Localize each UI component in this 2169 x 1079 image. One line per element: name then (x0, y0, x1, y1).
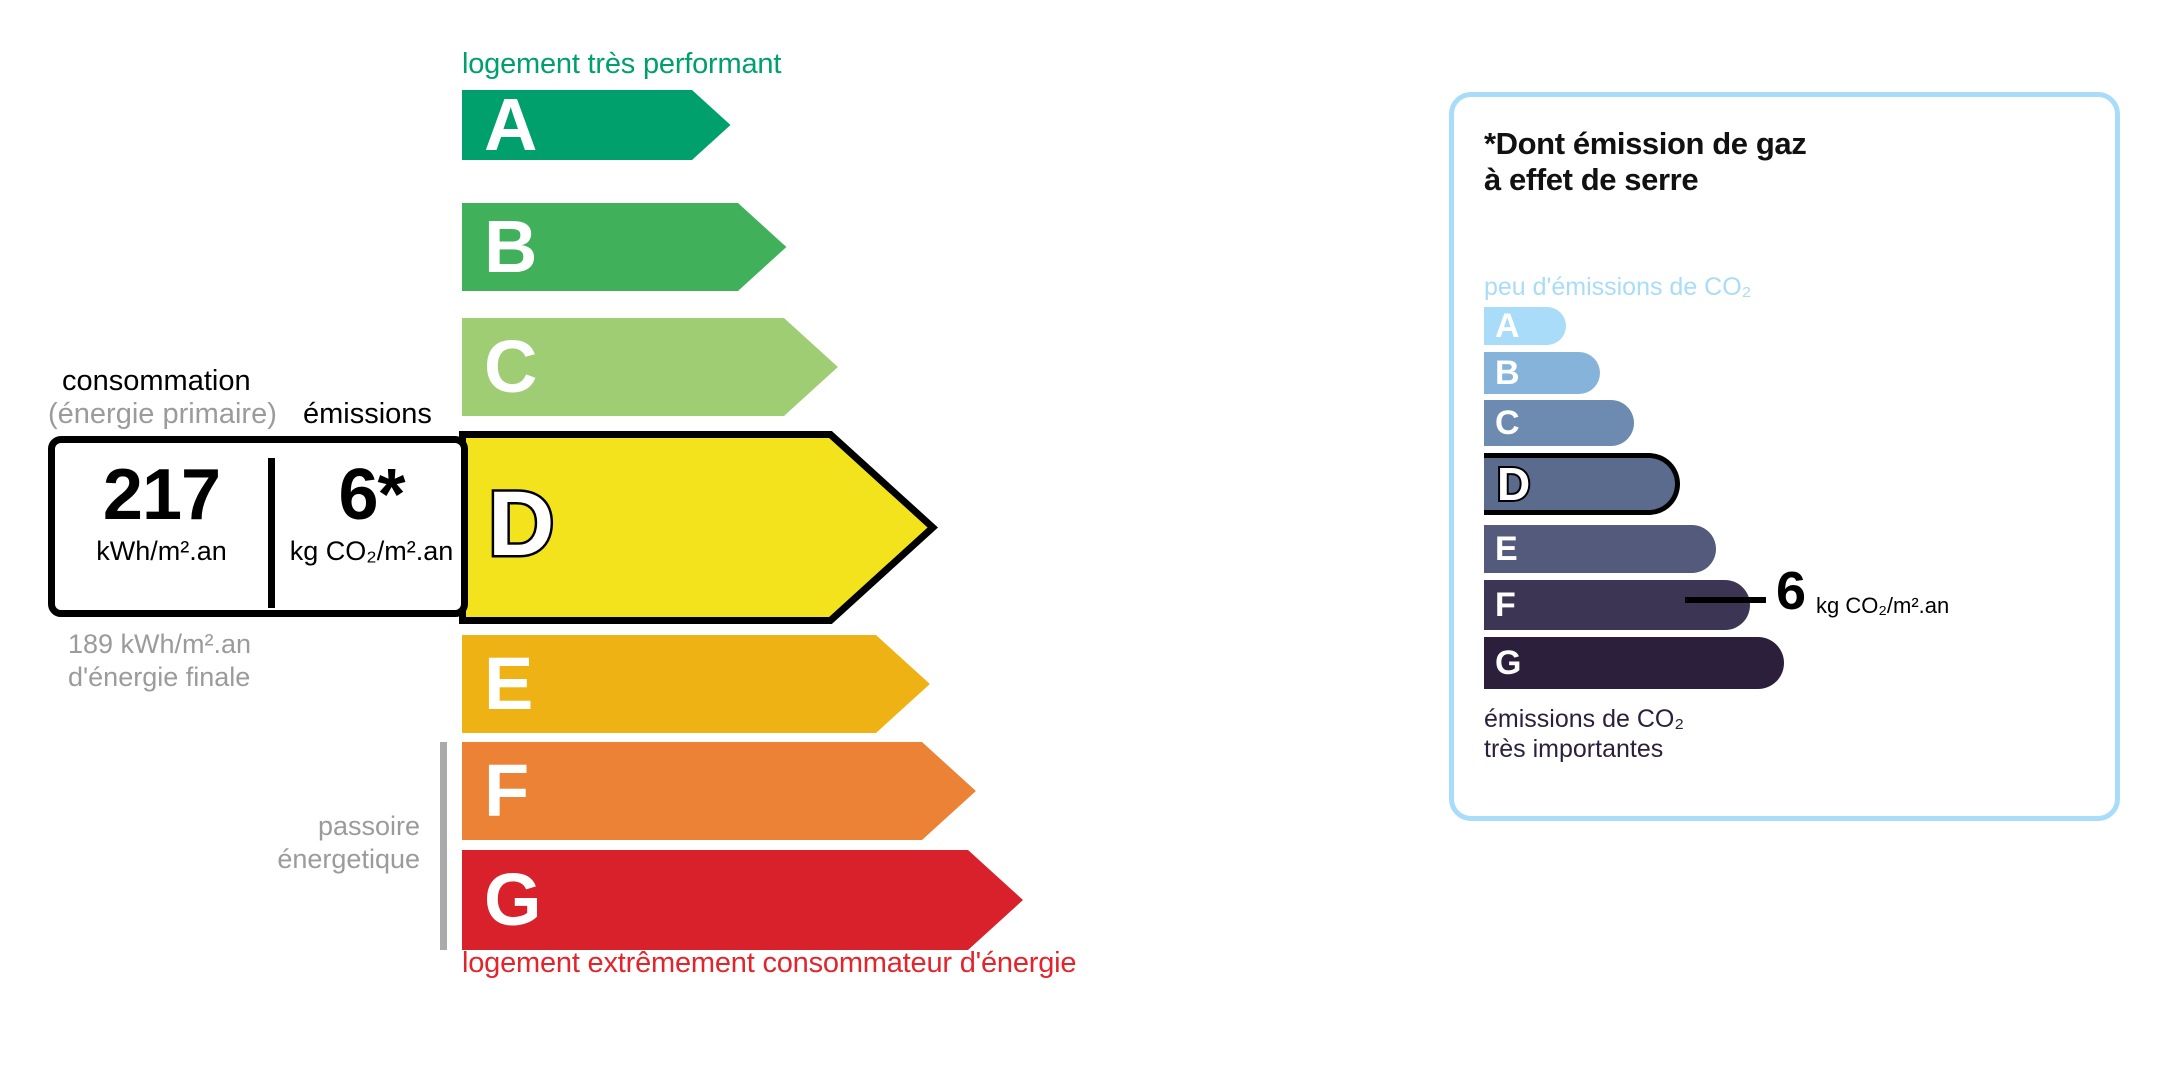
co2-selected-unit: kg CO₂/m².an (1816, 593, 1949, 619)
final-energy-line2: d'énergie finale (68, 661, 251, 694)
energy-class-e: E (462, 635, 876, 733)
co2-bottom-line2: très importantes (1484, 735, 1684, 765)
co2-title-line2: à effet de serre (1484, 162, 1806, 198)
co2-class-letter-e: E (1495, 532, 1518, 566)
label-energie-primaire: (énergie primaire) (48, 398, 277, 431)
primary-energy-unit: kWh/m².an (55, 537, 268, 565)
co2-title-line1: *Dont émission de gaz (1484, 126, 1806, 162)
energy-class-letter-d: D (488, 478, 554, 570)
energy-top-caption: logement très performant (462, 48, 781, 81)
co2-bar-shape-f (1484, 580, 1750, 630)
co2-class-b: B (1484, 352, 1600, 394)
co2-class-c: C (1484, 400, 1634, 446)
primary-energy-value: 217 (55, 459, 268, 531)
co2-class-letter-d: D (1497, 461, 1530, 507)
arrow-shape-b: B (462, 203, 738, 291)
energy-value-box: 217 kWh/m².an 6* kg CO₂/m².an (48, 436, 468, 617)
label-emissions: émissions (303, 398, 432, 431)
co2-emission-value: 6* (275, 459, 468, 531)
passoire-label: passoire énergetique (180, 810, 420, 876)
primary-energy-cell: 217 kWh/m².an (55, 459, 268, 565)
co2-class-f: F (1484, 580, 1750, 630)
co2-class-letter-a: A (1495, 309, 1520, 343)
co2-panel-title: *Dont émission de gaz à effet de serre (1484, 126, 1806, 198)
energy-bottom-caption: logement extrêmement consommateur d'éner… (462, 947, 1076, 980)
co2-emission-cell: 6* kg CO₂/m².an (275, 459, 468, 565)
co2-top-caption: peu d'émissions de CO₂ (1484, 273, 1751, 302)
co2-class-e: E (1484, 525, 1716, 573)
passoire-bracket-line (440, 742, 447, 950)
energy-class-f: F (462, 742, 922, 840)
co2-bottom-caption: émissions de CO₂ très importantes (1484, 705, 1684, 764)
co2-class-letter-b: B (1495, 356, 1520, 390)
co2-leader-line (1685, 597, 1766, 603)
energy-class-c: C (462, 318, 784, 416)
co2-class-a: A (1484, 307, 1566, 345)
energy-class-letter-a: A (484, 88, 537, 162)
co2-emission-unit: kg CO₂/m².an (275, 537, 468, 565)
co2-class-d: D (1484, 453, 1680, 515)
energy-class-b: B (462, 203, 738, 291)
co2-bar-shape-e (1484, 525, 1716, 573)
co2-bottom-line1: émissions de CO₂ (1484, 705, 1684, 735)
co2-selected-value: 6 (1776, 564, 1805, 618)
energy-class-letter-g: G (484, 863, 542, 937)
energy-class-a: A (462, 90, 692, 160)
co2-emission-panel: *Dont émission de gaz à effet de serre p… (1449, 92, 2120, 821)
energy-class-letter-b: B (484, 210, 537, 284)
passoire-line1: passoire (180, 810, 420, 843)
label-consommation: consommation (62, 365, 251, 398)
energy-class-letter-c: C (484, 330, 537, 404)
co2-bar-shape-g (1484, 637, 1784, 689)
energy-class-g: G (462, 850, 968, 950)
co2-class-g: G (1484, 637, 1784, 689)
energy-class-letter-e: E (484, 647, 533, 721)
energy-class-letter-f: F (484, 754, 529, 828)
arrow-shape-f: F (462, 742, 922, 840)
energy-class-d: D (462, 434, 830, 620)
arrow-shape-d: D (462, 431, 830, 617)
passoire-line2: énergetique (180, 843, 420, 876)
arrow-shape-g: G (462, 850, 968, 950)
final-energy-note: 189 kWh/m².an d'énergie finale (68, 628, 251, 694)
co2-class-letter-f: F (1495, 588, 1516, 622)
arrow-shape-c: C (462, 318, 784, 416)
co2-class-letter-g: G (1495, 646, 1521, 680)
energy-performance-chart: logement très performant ABCDEFG logemen… (0, 0, 1380, 1079)
arrow-shape-a: A (462, 90, 692, 160)
arrow-shape-e: E (462, 635, 876, 733)
value-box-divider (268, 458, 275, 608)
co2-class-letter-c: C (1495, 406, 1520, 440)
final-energy-line1: 189 kWh/m².an (68, 628, 251, 661)
